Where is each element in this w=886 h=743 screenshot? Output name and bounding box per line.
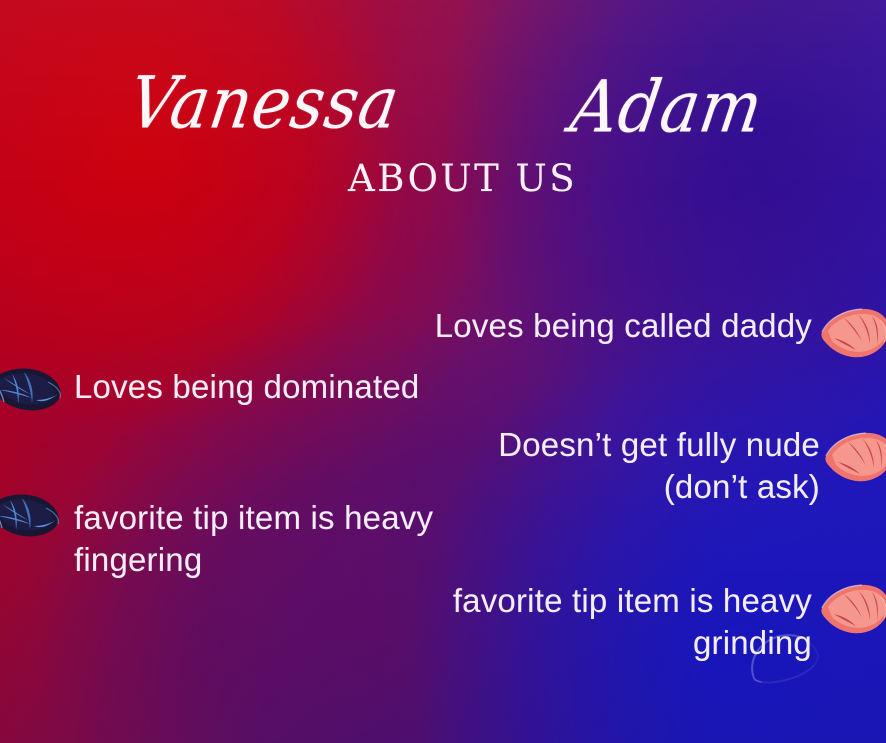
fact-loves-being-called-daddy: Loves being called daddy <box>435 305 812 347</box>
feather-left-dominated-icon <box>0 358 66 420</box>
feather-right-grinding-icon <box>818 576 886 638</box>
name-vanessa: Vanessa <box>124 68 404 140</box>
name-adam: Adam <box>566 72 767 144</box>
feather-left-fingering-icon <box>0 484 64 546</box>
fact-favorite-tip-item-fingering: favorite tip item is heavy fingering <box>74 497 504 581</box>
fact-loves-being-dominated: Loves being dominated <box>74 366 419 408</box>
feather-right-daddy-icon <box>818 300 886 362</box>
poster-canvas: Vanessa Adam ABOUT US Loves being called… <box>0 0 886 743</box>
page-title: ABOUT US <box>348 160 577 197</box>
feather-right-nude-icon <box>822 424 886 486</box>
fact-favorite-tip-item-grinding: favorite tip item is heavy grinding <box>342 580 812 664</box>
fact-doesnt-get-fully-nude: Doesn’t get fully nude (don’t ask) <box>498 424 820 508</box>
